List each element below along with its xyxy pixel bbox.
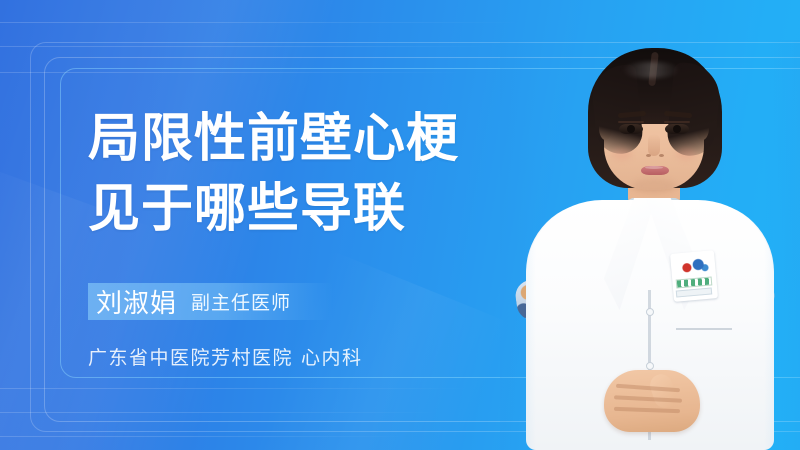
nostril-left <box>646 154 651 157</box>
cover-title-line-2: 见于哪些导联 <box>88 174 459 244</box>
cheek-left <box>612 148 632 160</box>
department-name: 心内科 <box>301 348 363 369</box>
decorative-hrule-1 <box>0 22 520 23</box>
eyelid-left <box>618 121 644 123</box>
decorative-hrule-5 <box>0 412 440 413</box>
pupil-right <box>673 125 681 133</box>
decorative-hrule-3 <box>0 72 470 73</box>
video-cover-canvas: 局限性前壁心梗 见于哪些导联 刘淑娟 副主任医师 广东省中医院芳村医院心内科 <box>0 0 800 450</box>
hospital-name: 广东省中医院芳村医院 <box>88 348 293 369</box>
coat-pocket <box>676 328 732 330</box>
nose <box>648 134 660 156</box>
cover-title: 局限性前壁心梗 见于哪些导联 <box>88 104 459 244</box>
affiliation-line: 广东省中医院芳村医院心内科 <box>88 343 363 370</box>
doctor-portrait <box>500 40 800 450</box>
coat-button-2 <box>646 362 654 370</box>
lip-highlight <box>645 166 663 169</box>
id-badge-logo-icon <box>675 253 713 278</box>
hair-highlight <box>622 62 680 78</box>
decorative-hrule-2 <box>0 46 500 47</box>
nostril-right <box>659 154 664 157</box>
doctor-name: 刘淑娟 <box>96 283 177 320</box>
cheek-right <box>676 148 696 160</box>
doctor-title: 副主任医师 <box>191 288 291 315</box>
eyelid-right <box>664 121 690 123</box>
chin-shadow <box>632 178 676 194</box>
coat-button-1 <box>646 308 654 316</box>
decorative-hrule-4 <box>0 388 470 389</box>
pupil-left <box>627 125 635 133</box>
cover-title-line-1: 局限性前壁心梗 <box>88 104 459 174</box>
doctor-byline: 刘淑娟 副主任医师 <box>96 283 291 320</box>
decorative-hrule-6 <box>0 436 410 437</box>
